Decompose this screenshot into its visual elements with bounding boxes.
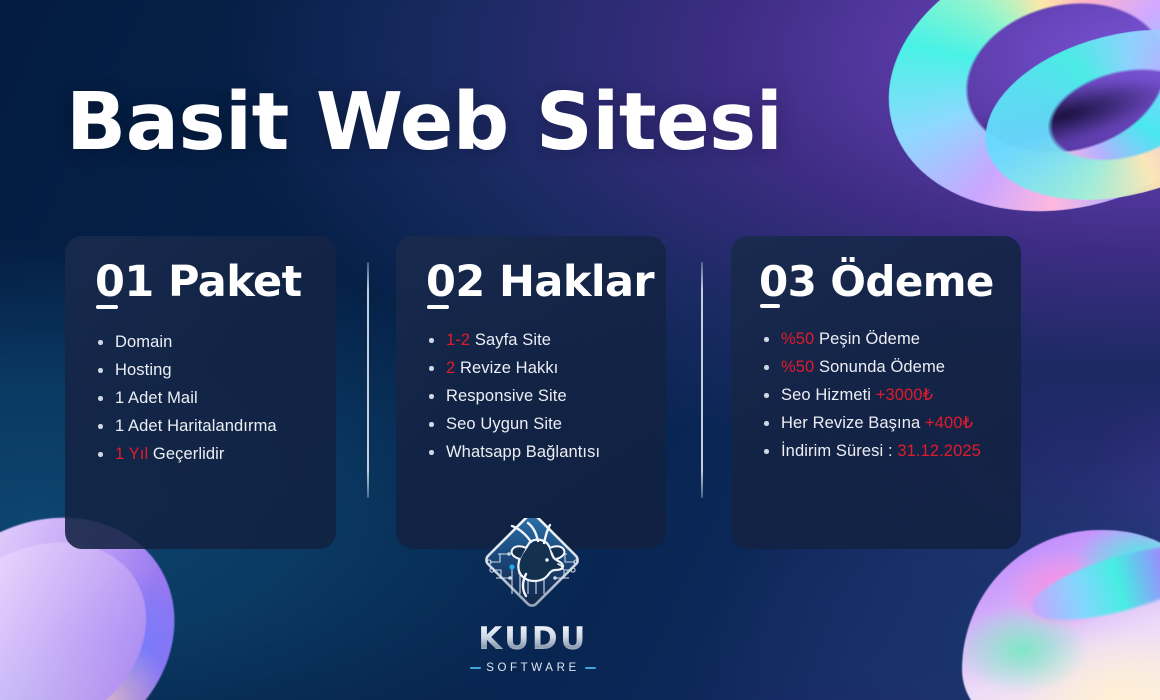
list-item: 2 Revize Hakkı: [420, 357, 648, 379]
item-post: Sonunda Ödeme: [814, 358, 945, 376]
iridescent-wave-decoration: [962, 530, 1160, 700]
item-post: Seo Uygun Site: [446, 415, 562, 433]
item-highlight: +400₺: [925, 414, 973, 432]
card-odeme-number: 0: [759, 260, 788, 304]
card-odeme: 03 Ödeme %50 Peşin Ödeme %50 Sonunda Öde…: [731, 236, 1021, 549]
item-post: 1 Adet Mail: [115, 389, 198, 407]
card-paket-number-rest: 1: [124, 257, 153, 307]
item-highlight: +3000₺: [876, 386, 933, 404]
list-item: Whatsapp Bağlantısı: [420, 441, 648, 463]
iridescent-torus-decoration: [860, 0, 1160, 248]
poster-canvas: Basit Web Sitesi 01 Paket Domain Hosting…: [0, 0, 1160, 700]
list-item: Seo Uygun Site: [420, 413, 648, 435]
list-item: 1-2 Sayfa Site: [420, 329, 648, 351]
card-divider-1: [367, 262, 369, 498]
item-post: Domain: [115, 333, 172, 351]
item-highlight: %50: [781, 330, 814, 348]
torus-shadow: [957, 65, 1160, 166]
card-haklar-number: 0: [426, 260, 455, 305]
card-haklar-number-rest: 2: [455, 257, 484, 307]
card-odeme-number-rest: 3: [788, 257, 817, 306]
list-item: Responsive Site: [420, 385, 648, 407]
kudu-antelope-diamond-icon: [468, 518, 598, 626]
list-item: %50 Peşin Ödeme: [755, 328, 1003, 350]
item-highlight: 2: [446, 359, 455, 377]
item-post: Peşin Ödeme: [814, 330, 920, 348]
card-paket-number: 0: [95, 260, 124, 305]
card-haklar-list: 1-2 Sayfa Site 2 Revize Hakkı Responsive…: [420, 329, 648, 463]
logo-dash-right-icon: [585, 667, 596, 669]
item-highlight: %50: [781, 358, 814, 376]
logo-tagline: SOFTWARE: [486, 662, 580, 674]
torus-inner-ring: [968, 2, 1160, 226]
list-item: İndirim Süresi : 31.12.2025: [755, 440, 1003, 462]
card-paket-title-text: Paket: [154, 257, 302, 307]
item-post: 1 Adet Haritalandırma: [115, 417, 277, 435]
wave-body: [962, 530, 1160, 700]
item-post: Whatsapp Bağlantısı: [446, 443, 600, 461]
card-paket-list: Domain Hosting 1 Adet Mail 1 Adet Harita…: [89, 331, 318, 465]
card-divider-2: [701, 262, 703, 498]
item-post: Geçerlidir: [148, 445, 224, 463]
card-paket-title: 01 Paket: [95, 260, 318, 305]
card-paket: 01 Paket Domain Hosting 1 Adet Mail 1 Ad…: [65, 236, 336, 549]
card-odeme-title: 03 Ödeme: [759, 260, 1003, 304]
logo-wordmark: KUDU: [468, 624, 598, 655]
torus-outer-ring: [860, 0, 1160, 248]
logo-dash-left-icon: [470, 667, 481, 669]
item-pre: Seo Hizmeti: [781, 386, 876, 404]
item-pre: İndirim Süresi :: [781, 442, 897, 460]
list-item: Her Revize Başına +400₺: [755, 412, 1003, 434]
pricing-card-group: 01 Paket Domain Hosting 1 Adet Mail 1 Ad…: [0, 236, 1160, 550]
item-highlight: 1-2: [446, 331, 470, 349]
page-title: Basit Web Sitesi: [66, 82, 782, 163]
card-odeme-title-text: Ödeme: [816, 257, 994, 306]
list-item: 1 Yıl Geçerlidir: [89, 443, 318, 465]
list-item: Domain: [89, 331, 318, 353]
list-item: %50 Sonunda Ödeme: [755, 356, 1003, 378]
item-post: Responsive Site: [446, 387, 567, 405]
card-odeme-list: %50 Peşin Ödeme %50 Sonunda Ödeme Seo Hi…: [755, 328, 1003, 462]
item-highlight: 1 Yıl: [115, 445, 148, 463]
list-item: 1 Adet Mail: [89, 387, 318, 409]
logo-tagline-group: SOFTWARE: [468, 662, 598, 674]
brand-logo: KUDU SOFTWARE: [468, 518, 598, 686]
list-item: 1 Adet Haritalandırma: [89, 415, 318, 437]
item-post: Hosting: [115, 361, 172, 379]
logo-wordmark-group: KUDU SOFTWARE: [468, 624, 598, 674]
item-post: Revize Hakkı: [455, 359, 558, 377]
item-pre: Her Revize Başına: [781, 414, 925, 432]
card-haklar: 02 Haklar 1-2 Sayfa Site 2 Revize Hakkı …: [396, 236, 666, 549]
item-highlight: 31.12.2025: [897, 442, 981, 460]
item-post: Sayfa Site: [470, 331, 551, 349]
card-haklar-title: 02 Haklar: [426, 260, 648, 305]
list-item: Seo Hizmeti +3000₺: [755, 384, 1003, 406]
card-haklar-title-text: Haklar: [485, 257, 654, 307]
list-item: Hosting: [89, 359, 318, 381]
